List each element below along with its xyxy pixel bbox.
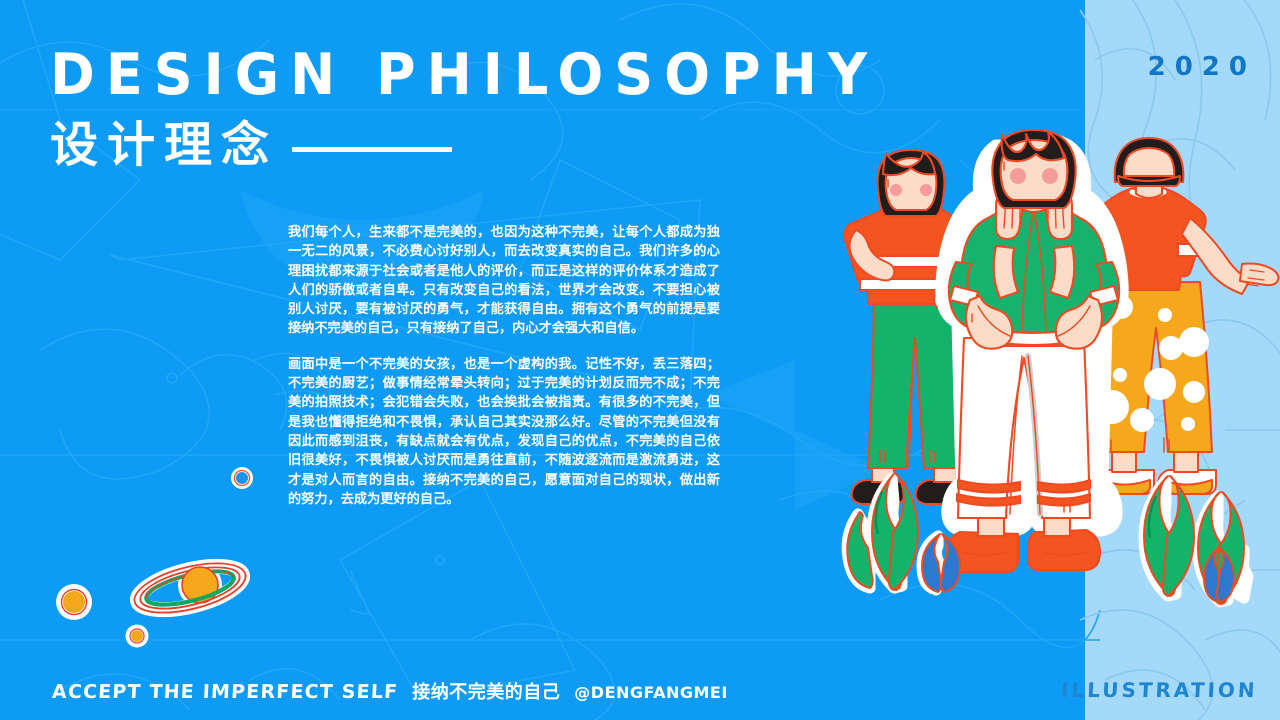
page-title-english: DESIGN PHILOSOPHY [50, 44, 878, 105]
footer-slogan-chinese: 接纳不完美的自己 [412, 678, 560, 704]
page-title-chinese: 设计理念 [50, 120, 278, 172]
page-title-chinese-row: 设计理念 [50, 120, 452, 172]
footer-illustration-label: ILLUSTRATION [1061, 678, 1259, 702]
body-copy: 我们每个人，生来都不是完美的，也因为这种不完美，让每个人都成为独一无二的风景，不… [288, 222, 720, 508]
footer-slogan-english: ACCEPT THE IMPERFECT SELF [51, 681, 398, 703]
title-divider-rule [292, 147, 452, 152]
body-paragraph-2: 画面中是一个不完美的女孩，也是一个虚构的我。记性不好，丢三落四；不完美的厨艺；做… [288, 354, 720, 508]
plants-right-cluster [1132, 466, 1262, 611]
saturn-planet-icon [130, 552, 250, 629]
body-paragraph-1: 我们每个人，生来都不是完美的，也因为这种不完美，让每个人都成为独一无二的风景，不… [288, 222, 720, 338]
figure-center [940, 128, 1130, 633]
orange-dot-large [55, 583, 93, 626]
plants-left-cluster [836, 462, 956, 597]
blue-dot [230, 466, 254, 495]
year-label: 2020 [1148, 52, 1256, 82]
orange-dot-small [125, 624, 149, 653]
footer-left: ACCEPT THE IMPERFECT SELF 接纳不完美的自己 @DENG… [52, 678, 728, 704]
footer-handle: @DENGFANGMEI [574, 683, 728, 702]
poster-canvas: DESIGN PHILOSOPHY 设计理念 2020 我们每个人，生来都不是完… [0, 0, 1280, 720]
